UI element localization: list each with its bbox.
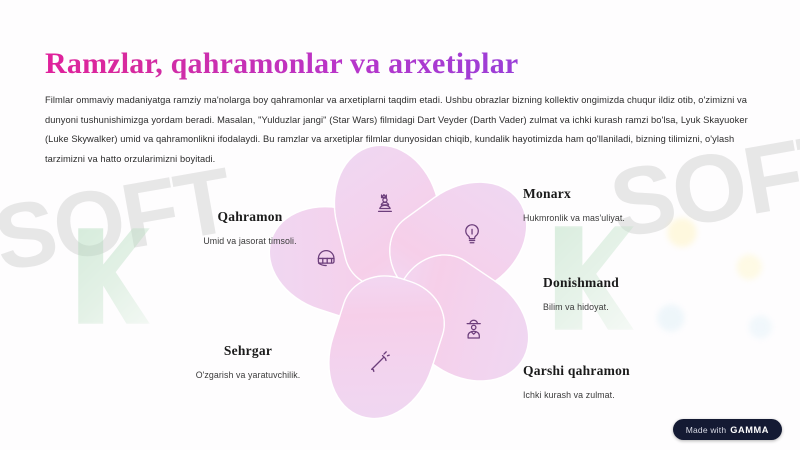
magic-wand-icon — [366, 348, 392, 374]
label-donishmand: Donishmand Bilim va hidoyat. — [543, 274, 773, 314]
label-monarx-desc: Hukmronlik va mas'uliyat. — [523, 211, 753, 225]
label-monarx: Monarx Hukmronlik va mas'uliyat. — [523, 185, 753, 225]
label-sehrgar: Sehrgar O'zgarish va yaratuvchilik. — [148, 342, 348, 382]
label-qahramon: Qahramon Umid va jasorat timsoli. — [150, 208, 350, 248]
label-qahramon-title: Qahramon — [150, 208, 350, 225]
king-figure-icon — [372, 189, 398, 215]
page-title: Ramzlar, qahramonlar va arxetiplar — [45, 46, 518, 82]
label-donishmand-desc: Bilim va hidoyat. — [543, 300, 773, 314]
label-qarshi-qahramon-desc: Ichki kurash va zulmat. — [523, 388, 753, 402]
label-monarx-title: Monarx — [523, 185, 753, 202]
label-qarshi-qahramon: Qarshi qahramon Ichki kurash va zulmat. — [523, 362, 753, 402]
slide-canvas: SOFT SOFT Ramzlar, qahramonlar va arxeti… — [0, 0, 800, 450]
label-qarshi-qahramon-title: Qarshi qahramon — [523, 362, 753, 379]
villain-figure-icon — [461, 316, 487, 342]
label-donishmand-title: Donishmand — [543, 274, 773, 291]
made-with-gamma-badge[interactable]: Made with GAMMA — [673, 419, 782, 440]
lightbulb-icon — [459, 221, 485, 247]
label-sehrgar-title: Sehrgar — [148, 342, 348, 359]
badge-made-with-label: Made with — [686, 425, 727, 435]
label-sehrgar-desc: O'zgarish va yaratuvchilik. — [148, 368, 348, 382]
label-qahramon-desc: Umid va jasorat timsoli. — [150, 234, 350, 248]
decorative-green-glyph-left — [72, 228, 150, 324]
badge-gamma-wordmark: GAMMA — [730, 425, 769, 435]
